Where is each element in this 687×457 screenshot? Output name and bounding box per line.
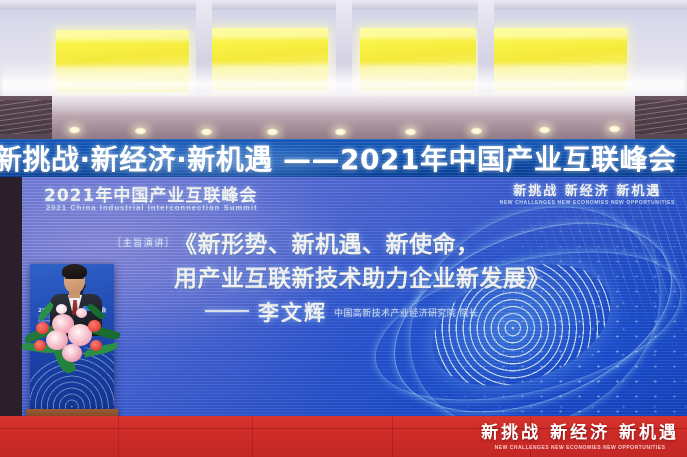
digital-globe-graphic xyxy=(377,177,687,416)
globe-particles xyxy=(377,177,687,416)
downlight-6 xyxy=(404,128,417,136)
flower-bloom xyxy=(56,304,67,314)
downlight-5 xyxy=(334,128,347,136)
screen-slogan-logo: 新挑战 新经济 新机遇 NEW CHALLENGES NEW ECONOMIES… xyxy=(500,180,675,206)
speaker-name: 李文辉 xyxy=(258,297,327,327)
speech-title-line1: 《新形势、新机遇、新使命， xyxy=(174,225,480,259)
speaker-role: 中国高新技术产业经济研究院 院长 xyxy=(334,306,478,319)
flower-bloom-red xyxy=(90,340,102,351)
leaf xyxy=(87,302,106,321)
flower-arrangement xyxy=(22,300,122,372)
ceiling xyxy=(0,0,687,96)
wall-slats-right xyxy=(635,100,687,134)
screen-slogan-en: NEW CHALLENGES NEW ECONOMIES NEW OPPORTU… xyxy=(500,200,675,206)
flower-bloom-red xyxy=(36,322,49,334)
floor-seam xyxy=(392,416,393,457)
downlight-9 xyxy=(608,125,621,133)
bottom-slogan-cn: 新挑战 新经济 新机遇 xyxy=(481,418,679,443)
top-led-banner: 新挑战·新经济·新机遇 ——2021年中国产业互联峰会 xyxy=(0,139,687,177)
glasses-icon xyxy=(65,278,84,284)
speaker-dash-rule xyxy=(205,310,249,312)
downlight-2 xyxy=(134,127,147,135)
screen-event-title-en: 2021 China Industrial Interconnection Su… xyxy=(46,203,258,212)
conference-stage-photo: 新挑战·新经济·新机遇 ——2021年中国产业互联峰会 2021年中国产业互联峰… xyxy=(0,0,687,457)
downlight-8 xyxy=(538,126,551,134)
speech-title-line2: 用产业互联新技术助力企业新发展》 xyxy=(174,259,550,293)
flower-bloom-red xyxy=(88,320,101,332)
flower-bloom xyxy=(76,308,87,318)
bottom-slogan-logo: 新挑战 新经济 新机遇 NEW CHALLENGES NEW ECONOMIES… xyxy=(481,418,679,451)
banner-headline: 新挑战·新经济·新机遇 ——2021年中国产业互联峰会 xyxy=(0,139,676,177)
floor-seam xyxy=(252,416,253,457)
flower-bloom xyxy=(62,344,82,362)
downlight-1 xyxy=(68,126,81,134)
keynote-label: ［主旨演讲］ xyxy=(112,235,175,249)
downlight-7 xyxy=(470,127,483,135)
main-led-screen: 2021年中国产业互联峰会 2021 China Industrial Inte… xyxy=(22,177,687,416)
screen-slogan-cn: 新挑战 新经济 新机遇 xyxy=(500,180,675,199)
floor-seam xyxy=(118,416,119,457)
downlight-4 xyxy=(266,128,279,136)
wall-slats-left xyxy=(0,100,52,134)
downlight-3 xyxy=(200,128,213,136)
flower-bloom-red xyxy=(34,340,46,351)
speaker-hair xyxy=(62,264,87,279)
bottom-slogan-en: NEW CHALLENGES NEW ECONOMIES NEW OPPORTU… xyxy=(481,445,679,451)
